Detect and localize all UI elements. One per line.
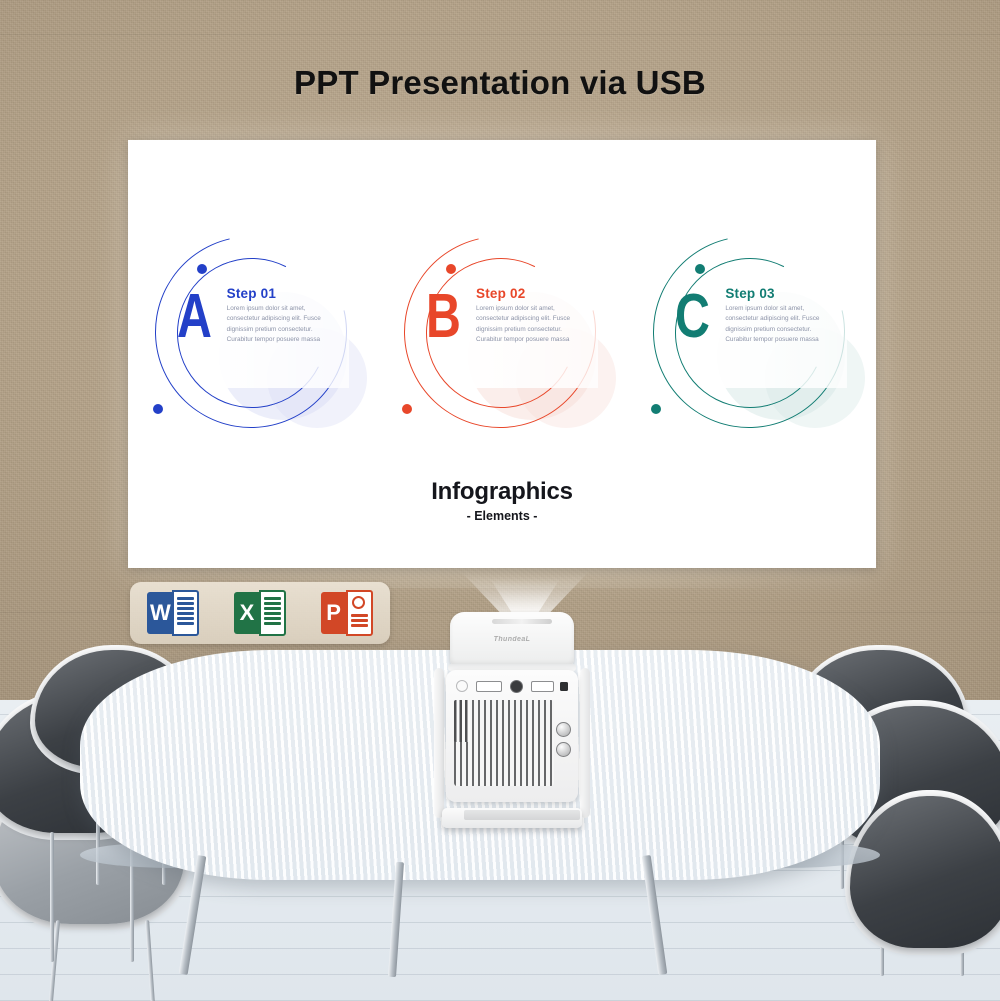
excel-icon-lines	[264, 597, 281, 628]
ring-dot	[197, 264, 207, 274]
step-item-c: C Step 03 Lorem ipsum dolor sit amet, co…	[635, 208, 867, 458]
step-letter: C	[675, 286, 710, 348]
step-title: Step 03	[725, 286, 774, 301]
projector-device: ThundeaL	[432, 612, 592, 842]
powerpoint-icon-circle	[352, 596, 365, 609]
usb-port[interactable]	[531, 681, 554, 692]
office-format-bar: W X P	[130, 582, 390, 644]
step-body: Lorem ipsum dolor sit amet, consectetur …	[476, 304, 588, 346]
step-letter: B	[426, 286, 461, 348]
step-item-b: B Step 02 Lorem ipsum dolor sit amet, co…	[386, 208, 618, 458]
ring-dot	[402, 404, 412, 414]
step-letter: A	[177, 286, 212, 348]
power-button-icon[interactable]	[456, 680, 468, 692]
projector-base	[442, 808, 582, 828]
projector-stand-arm-left	[434, 668, 444, 818]
powerpoint-icon-letter: P	[321, 592, 347, 634]
slide-footer: Infographics - Elements -	[128, 478, 876, 523]
step-title: Step 01	[227, 286, 276, 301]
ring-dot	[446, 264, 456, 274]
hdmi-port[interactable]	[476, 681, 502, 692]
excel-icon: X	[234, 590, 286, 636]
slide-footer-title: Infographics	[128, 478, 876, 506]
word-icon-page	[172, 590, 199, 636]
step-item-a: A Step 01 Lorem ipsum dolor sit amet, co…	[137, 208, 369, 458]
ir-receiver-icon	[560, 682, 568, 691]
slide-infographic: A Step 01 Lorem ipsum dolor sit amet, co…	[128, 140, 876, 568]
ring-dot	[153, 404, 163, 414]
slide-footer-subtitle: - Elements -	[128, 509, 876, 523]
projector-vent-grille-side	[454, 700, 470, 742]
word-icon: W	[147, 590, 199, 636]
powerpoint-icon-slide	[346, 590, 373, 636]
step-group: A Step 01 Lorem ipsum dolor sit amet, co…	[128, 198, 876, 468]
step-title: Step 02	[476, 286, 525, 301]
wall-seam-top	[0, 34, 1000, 35]
word-icon-letter: W	[147, 592, 173, 634]
projector-body	[446, 670, 578, 802]
projector-port-row	[456, 678, 568, 694]
projector-brand-logo: ThundeaL	[432, 636, 592, 643]
projection-screen: A Step 01 Lorem ipsum dolor sit amet, co…	[128, 140, 876, 568]
excel-icon-letter: X	[234, 592, 260, 634]
keystone-knob[interactable]	[556, 742, 571, 757]
projector-base-pad	[464, 810, 580, 820]
audio-jack-port[interactable]	[510, 680, 523, 693]
ring-dot	[651, 404, 661, 414]
powerpoint-icon-lines	[351, 614, 368, 629]
projector-lens-slot	[492, 619, 552, 624]
step-body: Lorem ipsum dolor sit amet, consectetur …	[725, 304, 837, 346]
focus-knob[interactable]	[556, 722, 571, 737]
word-icon-lines	[177, 597, 194, 628]
projector-stand-arm-right	[580, 668, 590, 818]
step-body: Lorem ipsum dolor sit amet, consectetur …	[227, 304, 339, 346]
excel-icon-grid	[259, 590, 286, 636]
powerpoint-icon: P	[321, 590, 373, 636]
page-title: PPT Presentation via USB	[0, 64, 1000, 102]
